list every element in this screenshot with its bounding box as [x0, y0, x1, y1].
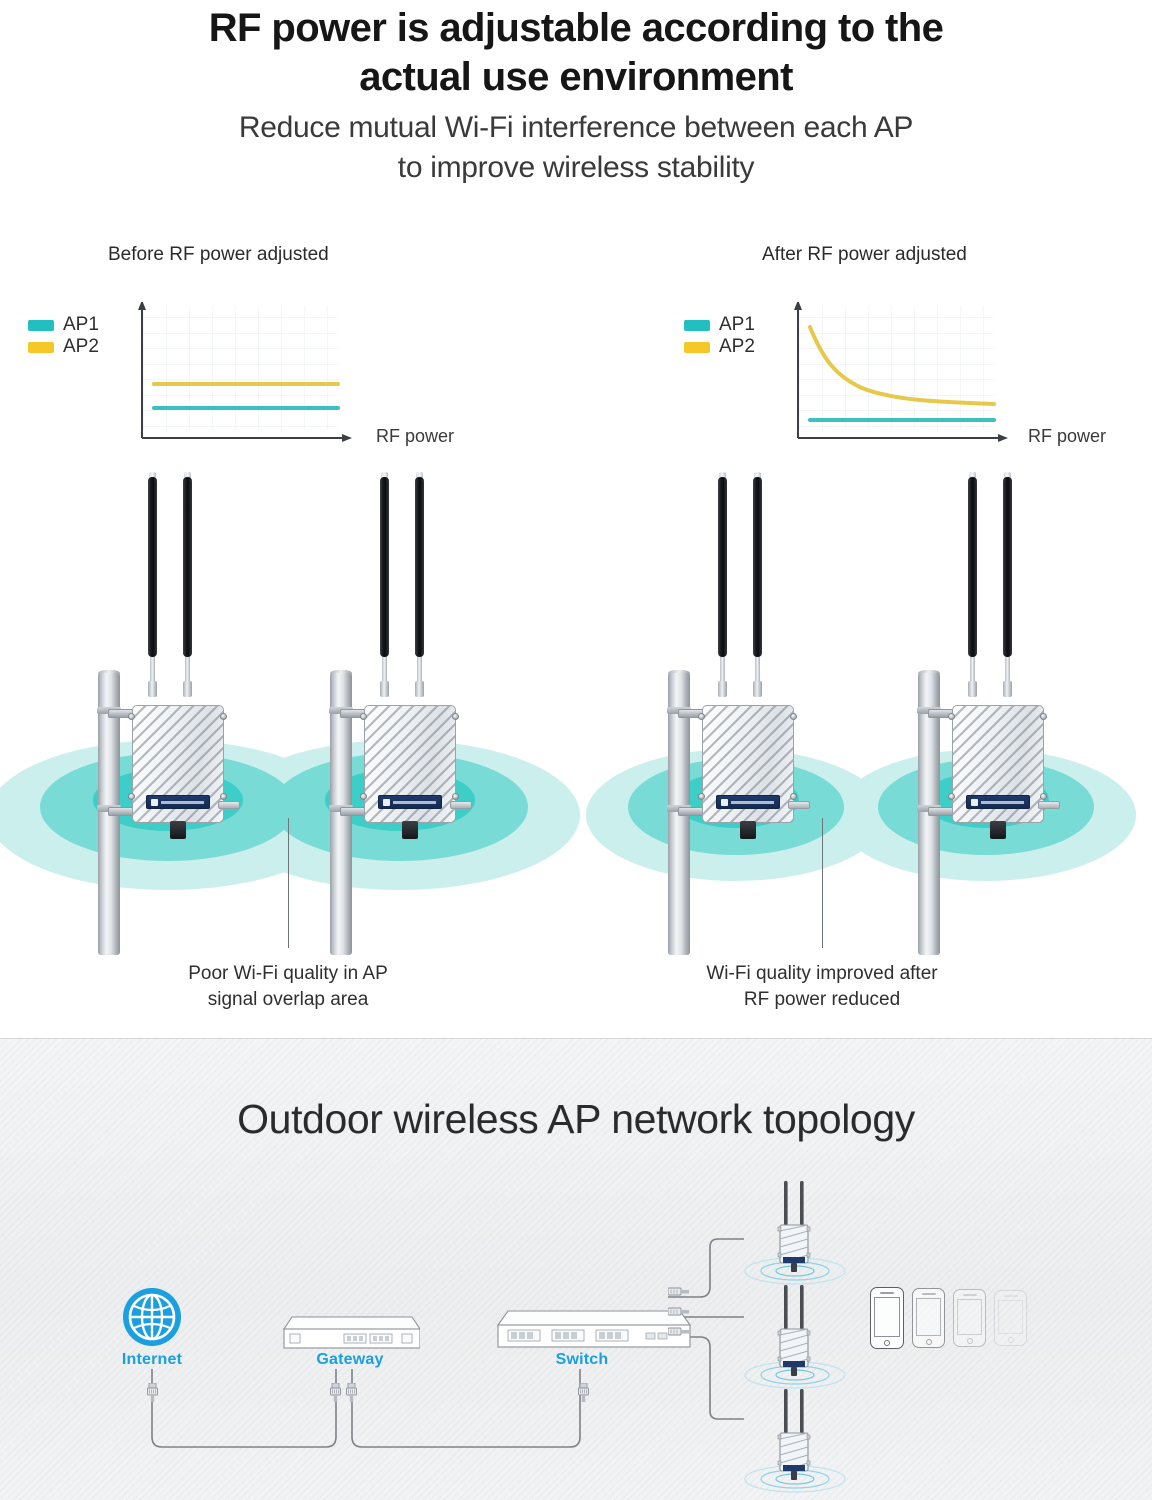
outdoor-ap-device	[364, 705, 456, 823]
ap-brand-label	[966, 795, 1030, 809]
rj45-plug-icon	[578, 1383, 589, 1402]
leader-line-before	[288, 818, 289, 948]
legend-label-ap1: AP1	[719, 314, 755, 336]
ap-screw	[220, 713, 227, 720]
ap-device-unit	[268, 455, 556, 955]
ap-brand-label	[716, 795, 780, 809]
ap-screw	[128, 793, 135, 800]
legend-swatch-ap1	[684, 320, 710, 331]
x-axis-arrow	[998, 434, 1008, 442]
cable-gateway-switch	[352, 1369, 580, 1447]
ap-side-bracket	[1038, 801, 1060, 809]
ap-screw	[790, 713, 797, 720]
client-phone[interactable]	[912, 1288, 945, 1348]
topology-ap-node[interactable]	[740, 1389, 850, 1499]
caption-before-line-2: signal overlap area	[78, 987, 498, 1013]
outdoor-ap-icon	[740, 1181, 850, 1291]
plot-area-before	[120, 302, 360, 450]
caption-after-line-2: RF power reduced	[612, 987, 1032, 1013]
ap-screw	[360, 793, 367, 800]
ap-screw	[790, 793, 797, 800]
chart-after-rf-adjust: AP1 AP2	[676, 296, 1136, 466]
topology-ap-node[interactable]	[740, 1285, 850, 1395]
ap-side-bracket	[450, 801, 472, 809]
switch-device-icon	[494, 1301, 694, 1355]
node-label-switch: Switch	[472, 1351, 692, 1369]
client-phone[interactable]	[994, 1290, 1027, 1346]
ap-screw	[698, 713, 705, 720]
rj45-plug-icon	[668, 1305, 696, 1317]
rj45-plug-icon	[668, 1285, 696, 1297]
ap-brand-label	[378, 795, 442, 809]
panel-title-before: Before RF power adjusted	[108, 244, 329, 266]
scene-after-rf-adjust	[576, 455, 1152, 955]
node-label-internet: Internet	[42, 1351, 262, 1369]
ap-brand-mark	[383, 799, 390, 806]
page-subheadline: Reduce mutual Wi-Fi interference between…	[0, 108, 1152, 187]
legend-item-ap2: AP2	[684, 336, 755, 358]
ap-brand-mark	[151, 799, 158, 806]
ap-device-unit	[856, 455, 1144, 955]
ap-brand-mark	[721, 799, 728, 806]
globe-icon	[122, 1287, 182, 1347]
ap-brand-text	[161, 801, 204, 804]
plot-area-after	[776, 302, 1016, 450]
x-axis-arrow	[342, 434, 352, 442]
legend-swatch-ap2	[684, 342, 710, 353]
caption-before-line-1: Poor Wi-Fi quality in AP	[78, 961, 498, 987]
node-label-gateway: Gateway	[240, 1351, 460, 1369]
ap-screw	[360, 713, 367, 720]
network-topology-section: Outdoor wireless AP network topology	[0, 1038, 1152, 1500]
rj45-plug-icon	[346, 1383, 357, 1402]
legend-item-ap1: AP1	[28, 314, 99, 336]
legend-item-ap2: AP2	[28, 336, 99, 358]
ap-device-unit	[606, 455, 894, 955]
ap-screw	[452, 713, 459, 720]
headline-line-2: actual use environment	[0, 53, 1152, 102]
client-phone[interactable]	[953, 1289, 986, 1347]
rf-power-section: RF power is adjustable according to the …	[0, 0, 1152, 1038]
x-axis-label-after: RF power	[1028, 426, 1106, 447]
ap-cable-gland	[170, 821, 186, 839]
caption-before: Poor Wi-Fi quality in AP signal overlap …	[78, 961, 498, 1012]
ap-screw	[1040, 793, 1047, 800]
page-headline: RF power is adjustable according to the …	[0, 4, 1152, 102]
plot-grid	[798, 306, 994, 430]
rj45-plug-icon	[147, 1383, 158, 1402]
ap-cable-gland	[990, 821, 1006, 839]
legend-swatch-ap1	[28, 320, 54, 331]
ap-cable-gland	[402, 821, 418, 839]
legend-label-ap1: AP1	[63, 314, 99, 336]
outdoor-ap-device	[952, 705, 1044, 823]
ap-screw	[948, 793, 955, 800]
rj45-plug-icon	[668, 1325, 696, 1337]
ap-brand-mark	[971, 799, 978, 806]
caption-after-line-1: Wi-Fi quality improved after	[612, 961, 1032, 987]
leader-line-after	[822, 818, 823, 948]
outdoor-ap-device	[132, 705, 224, 823]
chart-legend-after: AP1 AP2	[684, 314, 755, 358]
rj45-plug-icon	[330, 1383, 341, 1402]
legend-label-ap2: AP2	[63, 336, 99, 358]
x-axis-label-before: RF power	[376, 426, 454, 447]
ap-screw	[128, 713, 135, 720]
headline-line-1: RF power is adjustable according to the	[0, 4, 1152, 53]
outdoor-ap-icon	[740, 1285, 850, 1395]
caption-after: Wi-Fi quality improved after RF power re…	[612, 961, 1032, 1012]
plot-grid	[142, 306, 338, 430]
ap-screw	[220, 793, 227, 800]
ap-side-bracket	[218, 801, 240, 809]
chart-legend-before: AP1 AP2	[28, 314, 99, 358]
outdoor-ap-icon	[740, 1389, 850, 1499]
client-phone[interactable]	[870, 1287, 904, 1349]
panel-title-after: After RF power adjusted	[762, 244, 967, 266]
product-infographic-page: RF power is adjustable according to the …	[0, 0, 1152, 1500]
subheadline-line-2: to improve wireless stability	[0, 148, 1152, 188]
ap-screw	[452, 793, 459, 800]
ap-brand-label	[146, 795, 210, 809]
ap-screw	[698, 793, 705, 800]
legend-item-ap1: AP1	[684, 314, 755, 336]
ap-brand-text	[393, 801, 436, 804]
legend-swatch-ap2	[28, 342, 54, 353]
ap-side-bracket	[788, 801, 810, 809]
ap-screw	[948, 713, 955, 720]
outdoor-ap-device	[702, 705, 794, 823]
topology-cabling	[0, 1039, 1152, 1500]
cable-internet-gateway	[152, 1369, 336, 1447]
topology-ap-node[interactable]	[740, 1181, 850, 1291]
legend-label-ap2: AP2	[719, 336, 755, 358]
subheadline-line-1: Reduce mutual Wi-Fi interference between…	[0, 108, 1152, 148]
ap-screw	[1040, 713, 1047, 720]
ap-brand-text	[731, 801, 774, 804]
gateway-device-icon	[280, 1307, 420, 1355]
ap-brand-text	[981, 801, 1024, 804]
chart-before-rf-adjust: AP1 AP2	[20, 296, 480, 466]
ap-cable-gland	[740, 821, 756, 839]
